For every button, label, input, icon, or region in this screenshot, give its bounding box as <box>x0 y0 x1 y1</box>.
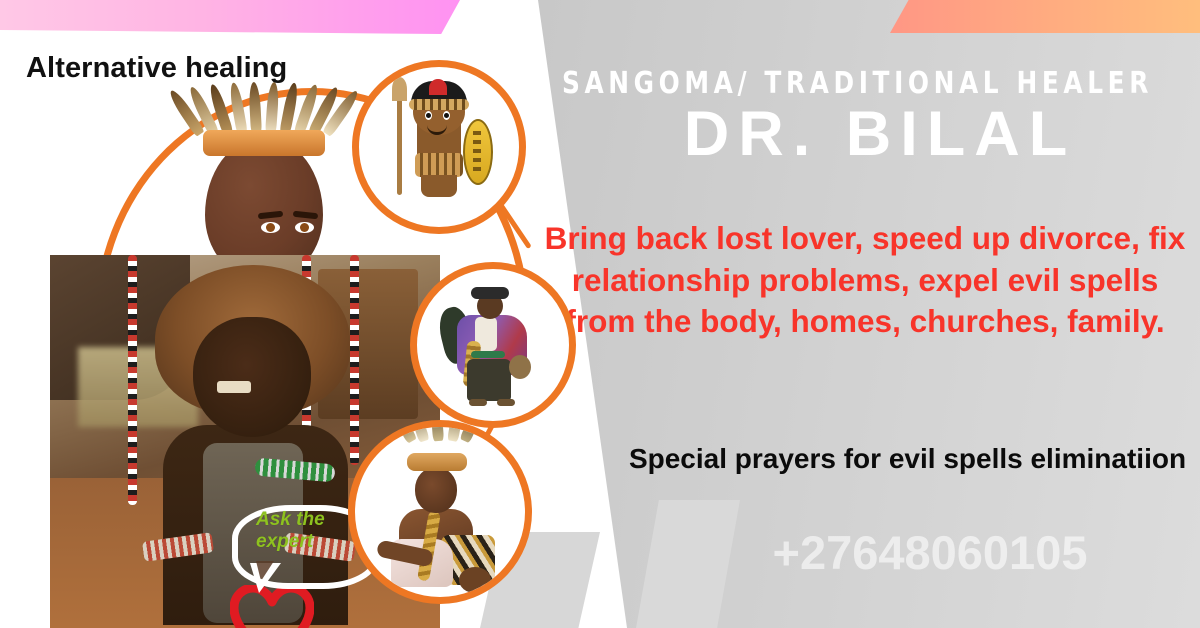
poster-canvas: Alternative healing <box>0 0 1200 628</box>
figure-headband <box>203 130 325 156</box>
circle-robed-healer-illustration <box>410 262 576 428</box>
circle-crouching-sangoma-illustration <box>348 420 532 604</box>
phone-number-watermark: +27648060105 <box>660 525 1200 580</box>
circle-zulu-warrior-illustration <box>352 60 526 234</box>
top-orange-strip <box>890 0 1200 33</box>
speech-bubble: Ask the expert <box>232 505 367 591</box>
kicker-text: SANGOMA/ TRADITIONAL HEALER <box>562 66 1132 101</box>
services-text: Bring back lost lover, speed up divorce,… <box>540 218 1190 343</box>
page-title: Alternative healing <box>26 52 287 85</box>
special-prayers-text: Special prayers for evil spells eliminat… <box>620 440 1195 479</box>
top-pink-strip <box>0 0 460 34</box>
doctor-name: DR. BILAL <box>570 103 1190 166</box>
